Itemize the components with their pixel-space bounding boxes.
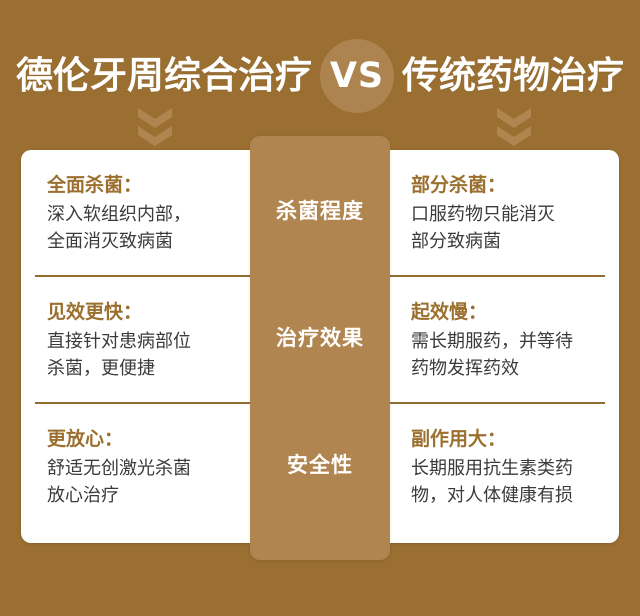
cell-line: 深入软组织内部， bbox=[47, 201, 259, 228]
criteria-label: 杀菌程度 bbox=[250, 196, 390, 226]
criteria-label: 安全性 bbox=[250, 450, 390, 480]
chevron-double-down-icon-left bbox=[138, 108, 172, 148]
row-right-cell: 起效慢： 需长期服药，并等待 药物发挥药效 bbox=[411, 277, 611, 408]
cell-line: 全面消灭致病菌 bbox=[47, 228, 259, 255]
cell-heading: 见效更快： bbox=[47, 298, 259, 326]
cell-line: 药物发挥药效 bbox=[411, 355, 611, 382]
cell-heading: 副作用大： bbox=[411, 425, 611, 453]
cell-line: 长期服用抗生素类药 bbox=[411, 455, 611, 482]
cell-line: 部分致病菌 bbox=[411, 228, 611, 255]
cell-line: 舒适无创激光杀菌 bbox=[47, 455, 259, 482]
criteria-label: 治疗效果 bbox=[250, 323, 390, 353]
header-banner: 德伦牙周综合治疗 VS 传统药物治疗 bbox=[0, 0, 640, 150]
title-right: 传统药物治疗 bbox=[402, 47, 624, 105]
row-left-cell: 全面杀菌： 深入软组织内部， 全面消灭致病菌 bbox=[47, 150, 259, 281]
cell-line: 放心治疗 bbox=[47, 482, 259, 509]
cell-heading: 更放心： bbox=[47, 425, 259, 453]
cell-heading: 部分杀菌： bbox=[411, 171, 611, 199]
criteria-column: 杀菌程度 治疗效果 安全性 bbox=[250, 136, 390, 560]
cell-line: 直接针对患病部位 bbox=[47, 328, 259, 355]
cell-heading: 全面杀菌： bbox=[47, 171, 259, 199]
cell-heading: 起效慢： bbox=[411, 298, 611, 326]
row-right-cell: 副作用大： 长期服用抗生素类药 物，对人体健康有损 bbox=[411, 404, 611, 535]
chevron-double-down-icon-right bbox=[497, 108, 531, 148]
title-left: 德伦牙周综合治疗 bbox=[16, 47, 312, 105]
cell-line: 杀菌，更便捷 bbox=[47, 355, 259, 382]
row-left-cell: 见效更快： 直接针对患病部位 杀菌，更便捷 bbox=[47, 277, 259, 408]
cell-line: 需长期服药，并等待 bbox=[411, 328, 611, 355]
row-right-cell: 部分杀菌： 口服药物只能消灭 部分致病菌 bbox=[411, 150, 611, 281]
cell-line: 口服药物只能消灭 bbox=[411, 201, 611, 228]
vs-label: VS bbox=[330, 39, 384, 113]
cell-line: 物，对人体健康有损 bbox=[411, 482, 611, 509]
vs-badge: VS bbox=[320, 39, 394, 113]
row-left-cell: 更放心： 舒适无创激光杀菌 放心治疗 bbox=[47, 404, 259, 535]
title-row: 德伦牙周综合治疗 VS 传统药物治疗 bbox=[0, 47, 640, 105]
